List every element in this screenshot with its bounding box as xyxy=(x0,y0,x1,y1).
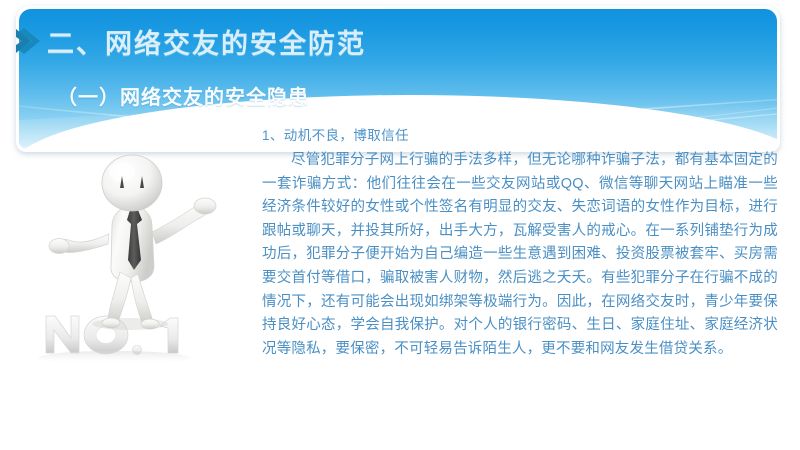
page-subtitle: （一）网络交友的安全隐患 xyxy=(57,81,309,110)
page-title: 二、网络交友的安全防范 xyxy=(47,22,366,61)
content-paragraph: 尽管犯罪分子网上行骗的手法多样，但无论哪种诈骗子法，都有基本固定的一套诈骗方式：… xyxy=(262,149,778,361)
mascot-figure xyxy=(49,155,216,330)
content-heading: 1、动机不良，博取信任 xyxy=(262,126,778,146)
mascot-illustration xyxy=(38,148,253,363)
slide-canvas: 二、网络交友的安全防范 （一）网络交友的安全隐患 1、动机不良，博取信任 尽管犯… xyxy=(0,0,800,450)
chevron-right-icon xyxy=(16,26,50,56)
content-column: 1、动机不良，博取信任 尽管犯罪分子网上行骗的手法多样，但无论哪种诈骗子法，都有… xyxy=(262,126,778,361)
